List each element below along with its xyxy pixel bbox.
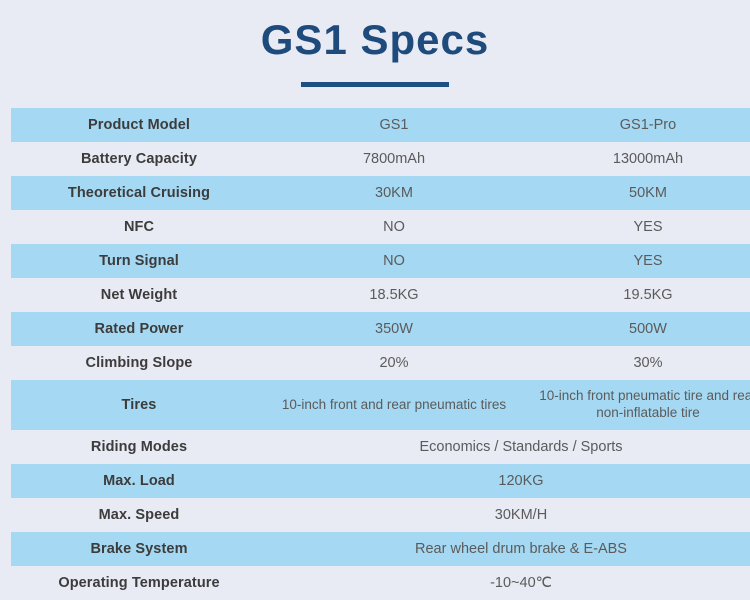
spec-label: Operating Temperature (11, 566, 267, 600)
spec-value-gs1-pro: YES (521, 244, 750, 278)
spec-label: Riding Modes (11, 430, 267, 464)
table-row: Max. Speed30KM/H (11, 498, 750, 532)
spec-label: Max. Speed (11, 498, 267, 532)
spec-label: Net Weight (11, 278, 267, 312)
title-block: GS1 Specs (0, 0, 750, 87)
spec-value-gs1-pro: 19.5KG (521, 278, 750, 312)
table-row: Brake SystemRear wheel drum brake & E-AB… (11, 532, 750, 566)
spec-label: Theoretical Cruising (11, 176, 267, 210)
spec-label: Brake System (11, 532, 267, 566)
spec-value-combined: 120KG (267, 464, 750, 498)
table-row: Turn SignalNOYES (11, 244, 750, 278)
table-row: Tires10-inch front and rear pneumatic ti… (11, 380, 750, 430)
spec-value-combined: -10~40℃ (267, 566, 750, 600)
spec-value-gs1: 10-inch front and rear pneumatic tires (267, 380, 521, 430)
table-row: Rated Power350W500W (11, 312, 750, 346)
spec-value-gs1: NO (267, 210, 521, 244)
spec-value-gs1-pro: GS1-Pro (521, 108, 750, 142)
spec-value-gs1-pro: 30% (521, 346, 750, 380)
table-row: Operating Temperature-10~40℃ (11, 566, 750, 600)
spec-value-gs1: 20% (267, 346, 521, 380)
spec-label: Product Model (11, 108, 267, 142)
spec-label: Turn Signal (11, 244, 267, 278)
table-row: Theoretical Cruising30KM50KM (11, 176, 750, 210)
spec-label: NFC (11, 210, 267, 244)
spec-value-gs1: 18.5KG (267, 278, 521, 312)
spec-value-gs1-pro: 500W (521, 312, 750, 346)
table-row: NFCNOYES (11, 210, 750, 244)
spec-value-gs1: NO (267, 244, 521, 278)
spec-value-gs1: 30KM (267, 176, 521, 210)
spec-label: Tires (11, 380, 267, 430)
spec-value-gs1-pro: 50KM (521, 176, 750, 210)
spec-value-gs1: GS1 (267, 108, 521, 142)
spec-label: Battery Capacity (11, 142, 267, 176)
table-row: Net Weight18.5KG19.5KG (11, 278, 750, 312)
table-row: Max. Load120KG (11, 464, 750, 498)
spec-value-combined: Economics / Standards / Sports (267, 430, 750, 464)
spec-sheet-page: GS1 Specs Product ModelGS1GS1-ProBattery… (0, 0, 750, 557)
spec-value-gs1-pro: 10-inch front pneumatic tire and rear no… (521, 380, 750, 430)
specifications-table: Product ModelGS1GS1-ProBattery Capacity7… (11, 108, 750, 600)
spec-label: Rated Power (11, 312, 267, 346)
table-row: Battery Capacity7800mAh13000mAh (11, 142, 750, 176)
table-row: Climbing Slope20%30% (11, 346, 750, 380)
spec-label: Climbing Slope (11, 346, 267, 380)
spec-value-gs1: 7800mAh (267, 142, 521, 176)
spec-value-gs1-pro: 13000mAh (521, 142, 750, 176)
page-title: GS1 Specs (0, 16, 750, 64)
spec-value-gs1: 350W (267, 312, 521, 346)
table-row: Riding ModesEconomics / Standards / Spor… (11, 430, 750, 464)
spec-label: Max. Load (11, 464, 267, 498)
specifications-table-body: Product ModelGS1GS1-ProBattery Capacity7… (11, 108, 750, 600)
spec-value-combined: Rear wheel drum brake & E-ABS (267, 532, 750, 566)
title-underline-rule (301, 82, 449, 87)
spec-value-gs1-pro: YES (521, 210, 750, 244)
table-row: Product ModelGS1GS1-Pro (11, 108, 750, 142)
spec-value-combined: 30KM/H (267, 498, 750, 532)
